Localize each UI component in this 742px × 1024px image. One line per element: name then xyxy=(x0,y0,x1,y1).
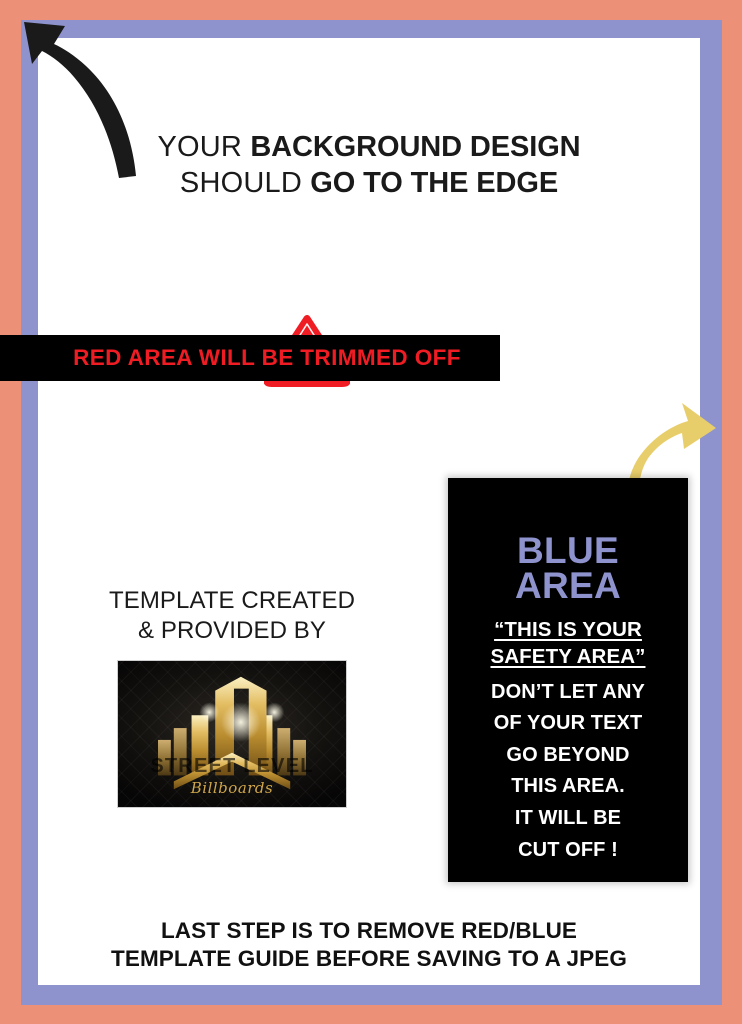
street-level-billboards-logo: STREET LEVEL Billboards xyxy=(117,660,347,808)
artboard: YOUR BACKGROUND DESIGN SHOULD GO TO THE … xyxy=(38,38,700,985)
safety-area-body-line-3: GO BEYOND xyxy=(448,740,688,772)
safety-area-body-line-5: IT WILL BE xyxy=(448,803,688,835)
headline-line-1: YOUR BACKGROUND DESIGN xyxy=(38,130,700,166)
safety-area-body-line-4: THIS AREA. xyxy=(448,771,688,803)
headline-line-2-bold: GO TO THE EDGE xyxy=(310,167,558,199)
safety-area-body: DON’T LET ANY OF YOUR TEXT GO BEYOND THI… xyxy=(448,677,688,867)
page-title: YOUR BACKGROUND DESIGN SHOULD GO TO THE … xyxy=(38,130,700,201)
footer-line-1: LAST STEP IS TO REMOVE RED/BLUE xyxy=(38,917,700,945)
trim-warning-banner: RED AREA WILL BE TRIMMED OFF xyxy=(0,335,500,381)
safety-area-quote-line-1: “THIS IS YOUR xyxy=(448,616,688,643)
safety-area-quote-line-2: SAFETY AREA” xyxy=(448,643,688,670)
credit-text: TEMPLATE CREATED & PROVIDED BY xyxy=(94,586,370,647)
billboard-template-poster: YOUR BACKGROUND DESIGN SHOULD GO TO THE … xyxy=(0,0,742,1024)
footer-line-2: TEMPLATE GUIDE BEFORE SAVING TO A JPEG xyxy=(38,945,700,973)
footer-instruction: LAST STEP IS TO REMOVE RED/BLUE TEMPLATE… xyxy=(38,917,700,973)
safety-area-body-line-1: DON’T LET ANY xyxy=(448,677,688,709)
credit-line-2: & PROVIDED BY xyxy=(94,616,370,646)
safety-area-title-line-2: AREA xyxy=(448,569,688,604)
trim-warning-label: RED AREA WILL BE TRIMMED OFF xyxy=(39,345,461,371)
safety-area-title: BLUE AREA xyxy=(448,534,688,604)
safety-area-body-line-2: OF YOUR TEXT xyxy=(448,708,688,740)
safety-area-title-line-1: BLUE xyxy=(448,534,688,569)
credit-block: TEMPLATE CREATED & PROVIDED BY xyxy=(94,586,370,808)
headline-line-1-light: YOUR xyxy=(157,131,250,163)
safety-area-quote: “THIS IS YOUR SAFETY AREA” xyxy=(448,616,688,670)
headline-line-1-bold: BACKGROUND DESIGN xyxy=(250,131,580,163)
headline-line-2-light: SHOULD xyxy=(180,167,310,199)
credit-line-1: TEMPLATE CREATED xyxy=(94,586,370,616)
safety-area-callout: BLUE AREA “THIS IS YOUR SAFETY AREA” DON… xyxy=(448,478,688,882)
logo-script-text: Billboards xyxy=(118,779,346,797)
headline-line-2: SHOULD GO TO THE EDGE xyxy=(38,166,700,202)
logo-wordmark: STREET LEVEL xyxy=(118,754,346,777)
safety-area-body-line-6: CUT OFF ! xyxy=(448,835,688,867)
